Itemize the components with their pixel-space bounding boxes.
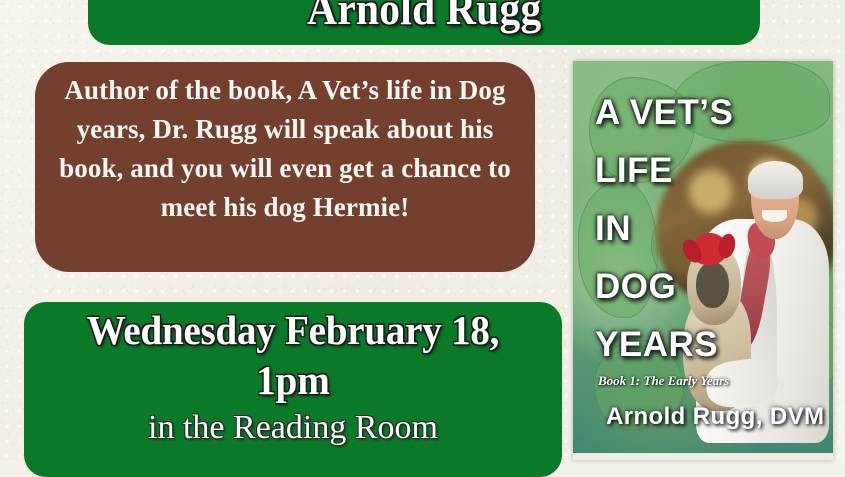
cover-title-word: DOG [595,267,676,307]
page-title: Arnold Rugg [307,0,541,31]
event-time: 1pm [37,354,548,406]
title-banner: Arnold Rugg [88,0,760,45]
poster-canvas: Arnold Rugg Author of the book, A Vet’s … [0,0,845,460]
cover-title-word: LIFE [595,151,673,191]
pug-face [696,262,728,308]
description-text: Author of the book, A Vet’s life in Dog … [53,71,517,227]
description-panel: Author of the book, A Vet’s life in Dog … [35,62,535,272]
cover-author: Arnold Rugg, DVM [606,403,824,431]
vet-smile [762,210,786,221]
cover-subtitle: Book 1: The Early Years [598,373,729,389]
cover-title-word: IN [595,209,631,249]
vet-and-dog-photo [677,153,833,440]
cover-title-word: A VET’S [595,93,733,133]
book-cover-image: A VET’S LIFE IN DOG YEARS Book 1: The Ea… [573,61,833,460]
cover-title-word: YEARS [595,325,718,365]
vet-hair [748,161,803,198]
event-location: in the Reading Room [24,406,562,450]
event-date: Wednesday February 18, [37,306,548,354]
cover-bottom-edge [573,453,833,460]
event-details-panel: Wednesday February 18, 1pm in the Readin… [24,302,562,477]
